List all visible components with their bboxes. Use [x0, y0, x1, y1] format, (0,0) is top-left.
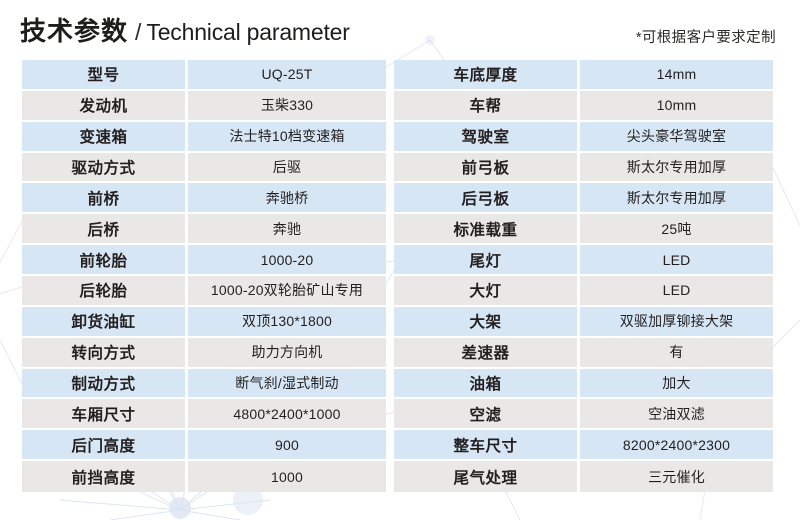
spec-row: 后门高度900 [22, 430, 386, 461]
spec-label: 变速箱 [22, 122, 188, 153]
spec-row: 制动方式断气刹/湿式制动 [22, 369, 386, 400]
spec-label: 制动方式 [22, 369, 188, 400]
spec-label: 后弓板 [394, 183, 580, 214]
spec-row: 前轮胎1000-20 [22, 245, 386, 276]
spec-label: 前弓板 [394, 153, 580, 184]
page-title-separator: / [135, 19, 141, 45]
spec-value: 10mm [580, 91, 773, 122]
spec-label: 前轮胎 [22, 245, 188, 276]
spec-row: 尾气处理三元催化 [394, 461, 773, 492]
spec-value: 加大 [580, 369, 773, 400]
spec-value: 斯太尔专用加厚 [580, 183, 773, 214]
spec-row: 车帮10mm [394, 91, 773, 122]
spec-value: 4800*2400*1000 [188, 399, 386, 430]
spec-label: 车厢尺寸 [22, 399, 188, 430]
spec-value: 法士特10档变速箱 [188, 122, 386, 153]
spec-value: 奔驰桥 [188, 183, 386, 214]
spec-row: 型号UQ-25T [22, 60, 386, 91]
spec-row: 油箱加大 [394, 369, 773, 400]
spec-label: 发动机 [22, 91, 188, 122]
spec-value: 25吨 [580, 214, 773, 245]
page-title-chinese: 技术参数 [20, 16, 128, 46]
spec-label: 尾灯 [394, 245, 580, 276]
spec-label: 车底厚度 [394, 60, 580, 91]
spec-row: 后桥奔驰 [22, 214, 386, 245]
spec-value: 14mm [580, 60, 773, 91]
spec-label: 驾驶室 [394, 122, 580, 153]
spec-value: 1000-20 [188, 245, 386, 276]
spec-row: 前桥奔驰桥 [22, 183, 386, 214]
spec-row: 前弓板斯太尔专用加厚 [394, 153, 773, 184]
spec-row: 大灯LED [394, 276, 773, 307]
spec-label: 尾气处理 [394, 461, 580, 492]
spec-value: LED [580, 245, 773, 276]
spec-row: 空滤空油双滤 [394, 399, 773, 430]
spec-label: 前桥 [22, 183, 188, 214]
spec-row: 差速器有 [394, 338, 773, 369]
spec-row: 整车尺寸8200*2400*2300 [394, 430, 773, 461]
spec-value: 有 [580, 338, 773, 369]
spec-value: 助力方向机 [188, 338, 386, 369]
page-title: 技术参数/Technical parameter [20, 11, 350, 48]
spec-label: 后门高度 [22, 430, 188, 461]
spec-table-right-body: 车底厚度14mm车帮10mm驾驶室尖头豪华驾驶室前弓板斯太尔专用加厚后弓板斯太尔… [394, 60, 773, 492]
spec-row: 大架双驱加厚铆接大架 [394, 307, 773, 338]
spec-label: 转向方式 [22, 338, 188, 369]
spec-label: 型号 [22, 60, 188, 91]
spec-label: 油箱 [394, 369, 580, 400]
spec-row: 车厢尺寸4800*2400*1000 [22, 399, 386, 430]
spec-row: 车底厚度14mm [394, 60, 773, 91]
spec-row: 转向方式助力方向机 [22, 338, 386, 369]
spec-value: 900 [188, 430, 386, 461]
spec-row: 驱动方式后驱 [22, 153, 386, 184]
spec-label: 差速器 [394, 338, 580, 369]
spec-label: 大灯 [394, 276, 580, 307]
spec-value: UQ-25T [188, 60, 386, 91]
spec-value: 双顶130*1800 [188, 307, 386, 338]
spec-tables-container: 型号UQ-25T发动机玉柴330变速箱法士特10档变速箱驱动方式后驱前桥奔驰桥后… [0, 60, 800, 494]
spec-label: 前挡高度 [22, 461, 188, 492]
spec-label: 驱动方式 [22, 153, 188, 184]
spec-value: 8200*2400*2300 [580, 430, 773, 461]
spec-label: 卸货油缸 [22, 307, 188, 338]
spec-value: 奔驰 [188, 214, 386, 245]
spec-row: 标准载重25吨 [394, 214, 773, 245]
spec-label: 标准载重 [394, 214, 580, 245]
spec-label: 空滤 [394, 399, 580, 430]
spec-row: 驾驶室尖头豪华驾驶室 [394, 122, 773, 153]
spec-value: 玉柴330 [188, 91, 386, 122]
spec-value: 断气刹/湿式制动 [188, 369, 386, 400]
spec-value: 1000 [188, 461, 386, 492]
spec-value: 三元催化 [580, 461, 773, 492]
spec-row: 后轮胎1000-20双轮胎矿山专用 [22, 276, 386, 307]
spec-value: 空油双滤 [580, 399, 773, 430]
spec-row: 卸货油缸双顶130*1800 [22, 307, 386, 338]
spec-row: 发动机玉柴330 [22, 91, 386, 122]
spec-table-left: 型号UQ-25T发动机玉柴330变速箱法士特10档变速箱驱动方式后驱前桥奔驰桥后… [22, 60, 386, 492]
spec-value: 双驱加厚铆接大架 [580, 307, 773, 338]
technical-parameter-page: 技术参数/Technical parameter *可根据客户要求定制 型号UQ… [0, 0, 800, 520]
spec-row: 前挡高度1000 [22, 461, 386, 492]
spec-value: 后驱 [188, 153, 386, 184]
spec-row: 后弓板斯太尔专用加厚 [394, 183, 773, 214]
spec-table-right: 车底厚度14mm车帮10mm驾驶室尖头豪华驾驶室前弓板斯太尔专用加厚后弓板斯太尔… [394, 60, 773, 492]
spec-value: 1000-20双轮胎矿山专用 [188, 276, 386, 307]
spec-label: 整车尺寸 [394, 430, 580, 461]
spec-label: 大架 [394, 307, 580, 338]
spec-table-left-body: 型号UQ-25T发动机玉柴330变速箱法士特10档变速箱驱动方式后驱前桥奔驰桥后… [22, 60, 386, 492]
spec-value: 斯太尔专用加厚 [580, 153, 773, 184]
spec-row: 变速箱法士特10档变速箱 [22, 122, 386, 153]
spec-value: LED [580, 276, 773, 307]
customization-note: *可根据客户要求定制 [636, 26, 776, 47]
page-header: 技术参数/Technical parameter *可根据客户要求定制 [0, 0, 800, 58]
spec-row: 尾灯LED [394, 245, 773, 276]
spec-label: 后桥 [22, 214, 188, 245]
spec-value: 尖头豪华驾驶室 [580, 122, 773, 153]
spec-label: 后轮胎 [22, 276, 188, 307]
spec-label: 车帮 [394, 91, 580, 122]
page-title-english: Technical parameter [146, 19, 349, 45]
